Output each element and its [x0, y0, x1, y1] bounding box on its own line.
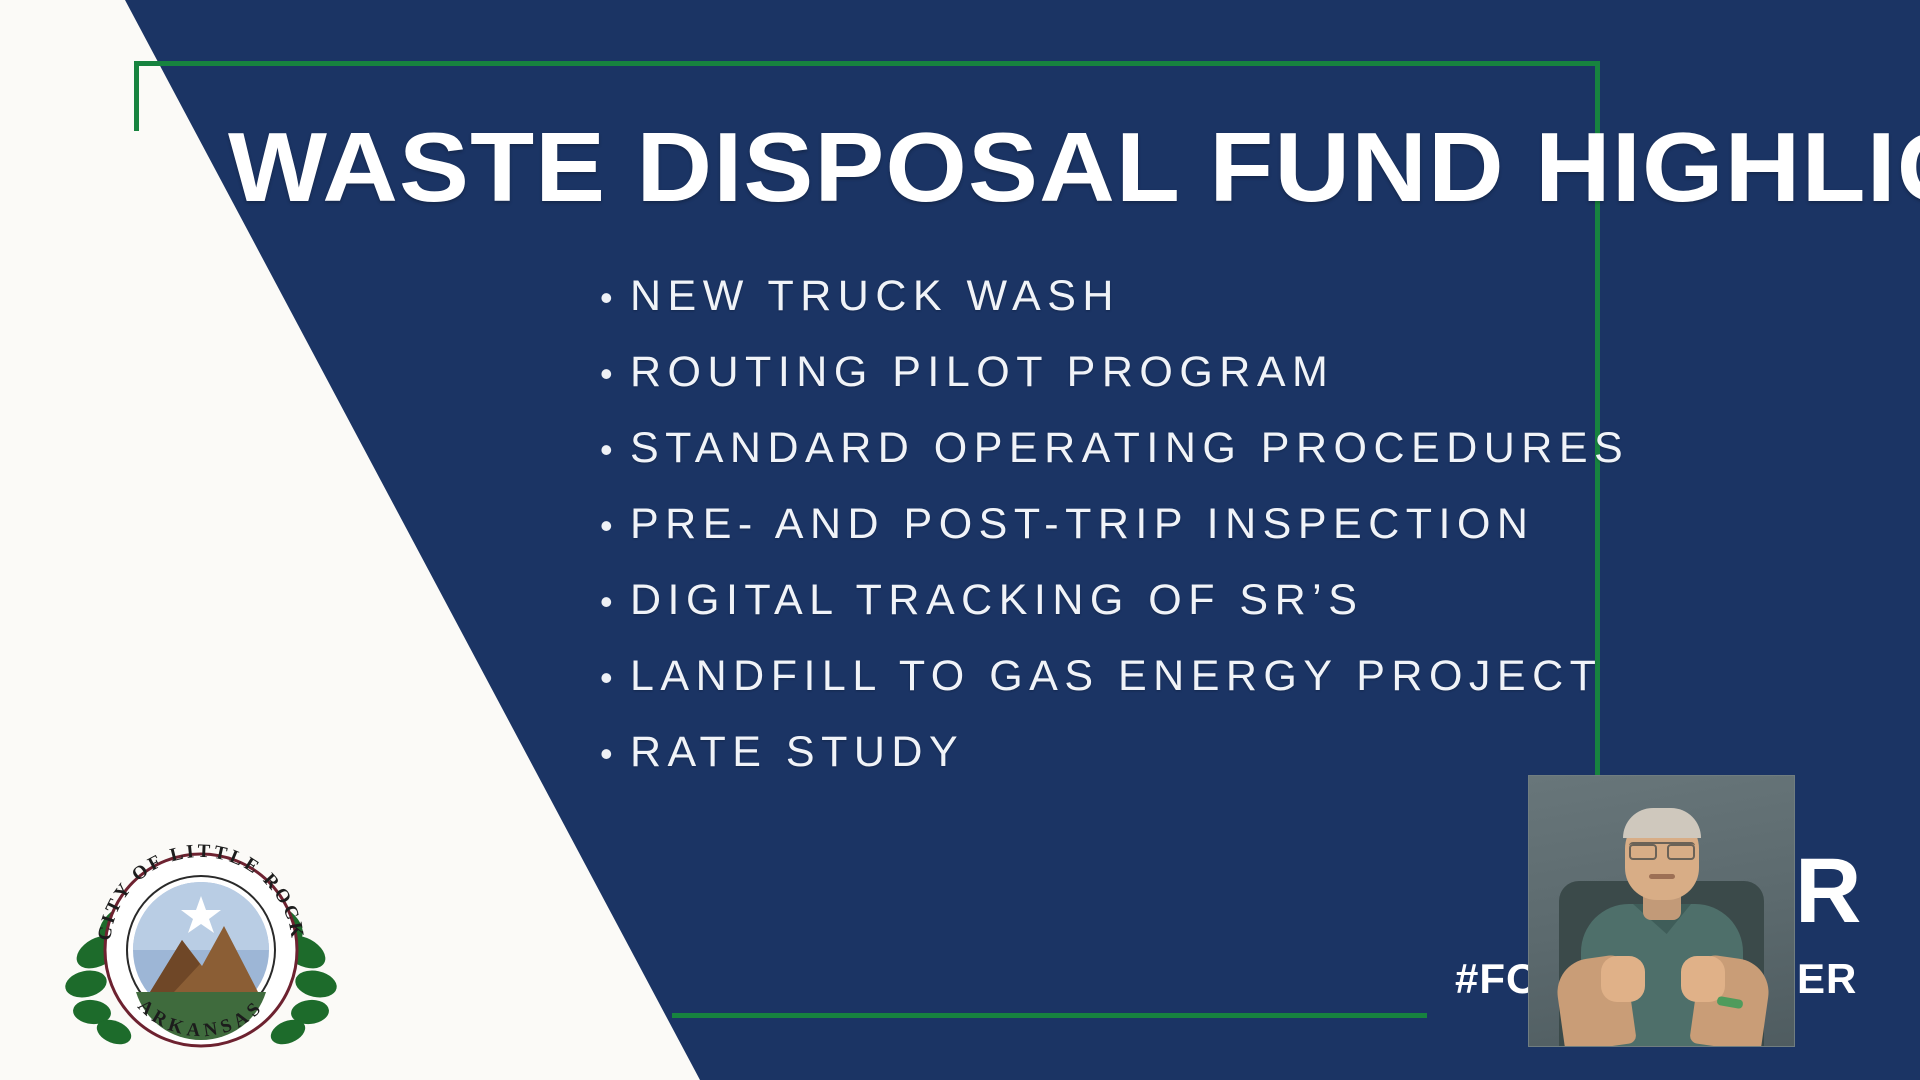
asl-interpreter-video[interactable] [1528, 775, 1795, 1047]
list-item: • PRE- AND POST-TRIP INSPECTION [600, 500, 1629, 576]
hashtag-partial: #FO [1455, 955, 1540, 1003]
glasses-icon [1629, 842, 1695, 857]
list-item-label: STANDARD OPERATING PROCEDURES [630, 424, 1629, 473]
list-item-label: RATE STUDY [630, 728, 964, 777]
wordmark-large-partial: R [1795, 845, 1861, 937]
frame-left-rule [134, 61, 139, 131]
interpreter-right-hand [1681, 956, 1725, 1002]
city-seal-icon: CITY OF LITTLE ROCK ARKANSAS [62, 800, 340, 1052]
list-item-label: LANDFILL TO GAS ENERGY PROJECT [630, 652, 1602, 701]
list-item: • DIGITAL TRACKING OF SR’S [600, 576, 1629, 652]
highlights-list: • NEW TRUCK WASH • ROUTING PILOT PROGRAM… [600, 272, 1629, 804]
interpreter-mouth [1649, 874, 1675, 879]
list-item-label: DIGITAL TRACKING OF SR’S [630, 576, 1363, 625]
list-item: • NEW TRUCK WASH [600, 272, 1629, 348]
frame-bottom-rule [672, 1013, 1427, 1018]
list-item: • RATE STUDY [600, 728, 1629, 804]
list-item: • STANDARD OPERATING PROCEDURES [600, 424, 1629, 500]
bullet-dot-icon: • [600, 356, 630, 392]
frame-top-rule [134, 61, 1600, 66]
wordmark-small-partial: ER [1797, 955, 1857, 1003]
list-item: • LANDFILL TO GAS ENERGY PROJECT [600, 652, 1629, 728]
list-item-label: ROUTING PILOT PROGRAM [630, 348, 1334, 397]
bullet-dot-icon: • [600, 432, 630, 468]
city-seal-logo: CITY OF LITTLE ROCK ARKANSAS [62, 800, 340, 1052]
interpreter-left-hand [1601, 956, 1645, 1002]
list-item-label: NEW TRUCK WASH [630, 272, 1120, 321]
bullet-dot-icon: • [600, 508, 630, 544]
presentation-slide: WASTE DISPOSAL FUND HIGHLIGHTS • NEW TRU… [0, 0, 1920, 1080]
list-item-label: PRE- AND POST-TRIP INSPECTION [630, 500, 1535, 549]
slide-title: WASTE DISPOSAL FUND HIGHLIGHTS [228, 118, 1683, 216]
bullet-dot-icon: • [600, 736, 630, 772]
bullet-dot-icon: • [600, 280, 630, 316]
bullet-dot-icon: • [600, 660, 630, 696]
bullet-dot-icon: • [600, 584, 630, 620]
list-item: • ROUTING PILOT PROGRAM [600, 348, 1629, 424]
